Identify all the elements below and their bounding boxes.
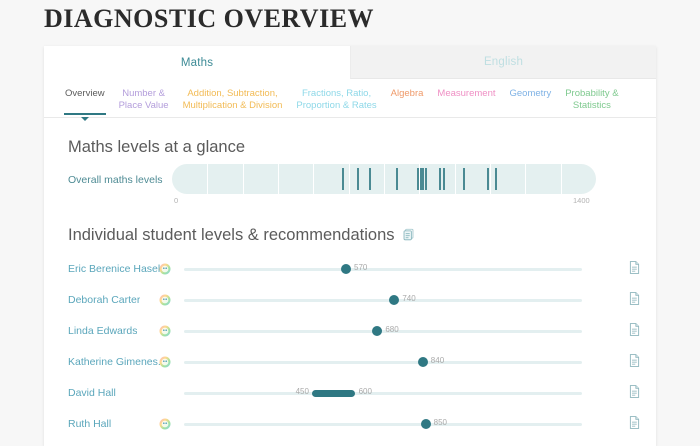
tab-maths[interactable]: Maths xyxy=(44,46,350,79)
strand-tab-label: Overview xyxy=(65,88,105,99)
individual-levels-heading: Individual student levels & recommendati… xyxy=(68,226,395,245)
student-row: Linda Edwards680 xyxy=(44,316,656,347)
student-level-track[interactable]: 680 xyxy=(184,330,582,333)
student-row: Katherine Gimenes...840 xyxy=(44,347,656,378)
student-rows: Eric Berenice Hasel...570Deborah Carter7… xyxy=(44,254,656,440)
histogram-tick[interactable] xyxy=(463,168,465,190)
subject-tab-bar: Maths English xyxy=(44,46,656,79)
multiple-documents-icon[interactable] xyxy=(402,228,415,246)
strand-tab-overview[interactable]: Overview xyxy=(58,79,112,118)
student-level-marker[interactable] xyxy=(372,326,382,336)
histogram-segment-divider xyxy=(384,164,385,194)
student-name-link[interactable]: Eric Berenice Hasel... xyxy=(68,263,160,275)
histogram-tick[interactable] xyxy=(425,168,427,190)
student-level-track[interactable]: 450600 xyxy=(184,392,582,395)
strand-tab-label: Fractions, Ratio, Proportion & Rates xyxy=(296,88,376,111)
strand-tab-label: Probability & Statistics xyxy=(565,88,618,111)
active-tab-underline xyxy=(64,113,106,115)
diagnostic-card: Maths English OverviewNumber & Place Val… xyxy=(44,46,656,446)
student-name-link[interactable]: Linda Edwards xyxy=(68,325,137,337)
student-level-marker[interactable] xyxy=(421,419,431,429)
student-row: David Hall450600 xyxy=(44,378,656,409)
strand-tab-label: Addition, Subtraction, Multiplication & … xyxy=(183,88,283,111)
strand-tab-algebra[interactable]: Algebra xyxy=(384,79,431,118)
histogram-tick[interactable] xyxy=(357,168,359,190)
strand-tab-probability-statistics[interactable]: Probability & Statistics xyxy=(558,79,625,118)
student-level-track[interactable]: 840 xyxy=(184,361,582,364)
histogram-tick[interactable] xyxy=(487,168,489,190)
strand-tab-label: Number & Place Value xyxy=(119,88,169,111)
strand-tab-number-place-value[interactable]: Number & Place Value xyxy=(112,79,176,118)
report-document-icon[interactable] xyxy=(629,261,640,279)
student-level-marker[interactable] xyxy=(341,264,351,274)
student-level-track[interactable]: 740 xyxy=(184,299,582,302)
histogram-segment-divider xyxy=(525,164,526,194)
student-level-value-high: 600 xyxy=(359,387,372,396)
student-level-marker[interactable] xyxy=(418,357,428,367)
student-row: Ruth Hall850 xyxy=(44,409,656,440)
overall-levels-label: Overall maths levels xyxy=(68,174,178,186)
histogram-segment-divider xyxy=(278,164,279,194)
strand-tab-bar: OverviewNumber & Place ValueAddition, Su… xyxy=(44,79,656,118)
histogram-tick[interactable] xyxy=(495,168,497,190)
strand-tab-measurement[interactable]: Measurement xyxy=(430,79,502,118)
page-title: DIAGNOSTIC OVERVIEW xyxy=(44,4,374,34)
report-document-icon[interactable] xyxy=(629,354,640,372)
student-row: Eric Berenice Hasel...570 xyxy=(44,254,656,285)
report-document-icon[interactable] xyxy=(629,416,640,434)
tab-english-label: English xyxy=(484,56,523,68)
axis-max-label: 1400 xyxy=(573,196,590,205)
tab-maths-label: Maths xyxy=(181,57,213,69)
histogram-segment-divider xyxy=(349,164,350,194)
chevron-down-icon xyxy=(81,117,89,121)
strand-tab-label: Measurement xyxy=(437,88,495,99)
histogram-tick[interactable] xyxy=(342,168,344,190)
histogram-tick[interactable] xyxy=(439,168,441,190)
maths-glance-heading: Maths levels at a glance xyxy=(68,138,245,157)
student-name-link[interactable]: Ruth Hall xyxy=(68,418,111,430)
histogram-segment-divider xyxy=(243,164,244,194)
student-level-track[interactable]: 850 xyxy=(184,423,582,426)
student-level-range-band[interactable] xyxy=(312,390,355,398)
overall-levels-histogram[interactable] xyxy=(172,164,596,194)
report-document-icon[interactable] xyxy=(629,385,640,403)
tab-english[interactable]: English xyxy=(350,46,656,79)
report-document-icon[interactable] xyxy=(629,323,640,341)
strand-tab-label: Geometry xyxy=(510,88,552,99)
student-level-value: 850 xyxy=(434,418,447,427)
histogram-segment-divider xyxy=(561,164,562,194)
strand-tab-addition-subtraction-multiplication-division[interactable]: Addition, Subtraction, Multiplication & … xyxy=(176,79,290,118)
strand-tab-fractions-ratio-proportion-rates[interactable]: Fractions, Ratio, Proportion & Rates xyxy=(289,79,383,118)
report-document-icon[interactable] xyxy=(629,292,640,310)
student-row: Deborah Carter740 xyxy=(44,285,656,316)
histogram-segment-divider xyxy=(455,164,456,194)
student-profile-icon[interactable] xyxy=(159,355,171,367)
histogram-tick[interactable] xyxy=(443,168,445,190)
student-level-marker[interactable] xyxy=(389,295,399,305)
histogram-segment-divider xyxy=(490,164,491,194)
strand-tab-label: Algebra xyxy=(391,88,424,99)
student-name-link[interactable]: Deborah Carter xyxy=(68,294,140,306)
student-profile-icon[interactable] xyxy=(159,417,171,429)
student-level-value: 680 xyxy=(385,325,398,334)
student-profile-icon[interactable] xyxy=(159,324,171,336)
student-profile-icon[interactable] xyxy=(159,293,171,305)
histogram-tick[interactable] xyxy=(396,168,398,190)
student-level-track[interactable]: 570 xyxy=(184,268,582,271)
student-level-value: 570 xyxy=(354,263,367,272)
axis-min-label: 0 xyxy=(174,196,178,205)
histogram-tick[interactable] xyxy=(369,168,371,190)
strand-tab-geometry[interactable]: Geometry xyxy=(503,79,559,118)
student-name-link[interactable]: Katherine Gimenes... xyxy=(68,356,160,368)
student-profile-icon[interactable] xyxy=(159,262,171,274)
histogram-segment-divider xyxy=(207,164,208,194)
histogram-segment-divider xyxy=(313,164,314,194)
student-level-value: 840 xyxy=(431,356,444,365)
student-level-value: 740 xyxy=(402,294,415,303)
student-name-link[interactable]: David Hall xyxy=(68,387,116,399)
student-level-value-low: 450 xyxy=(296,387,309,396)
